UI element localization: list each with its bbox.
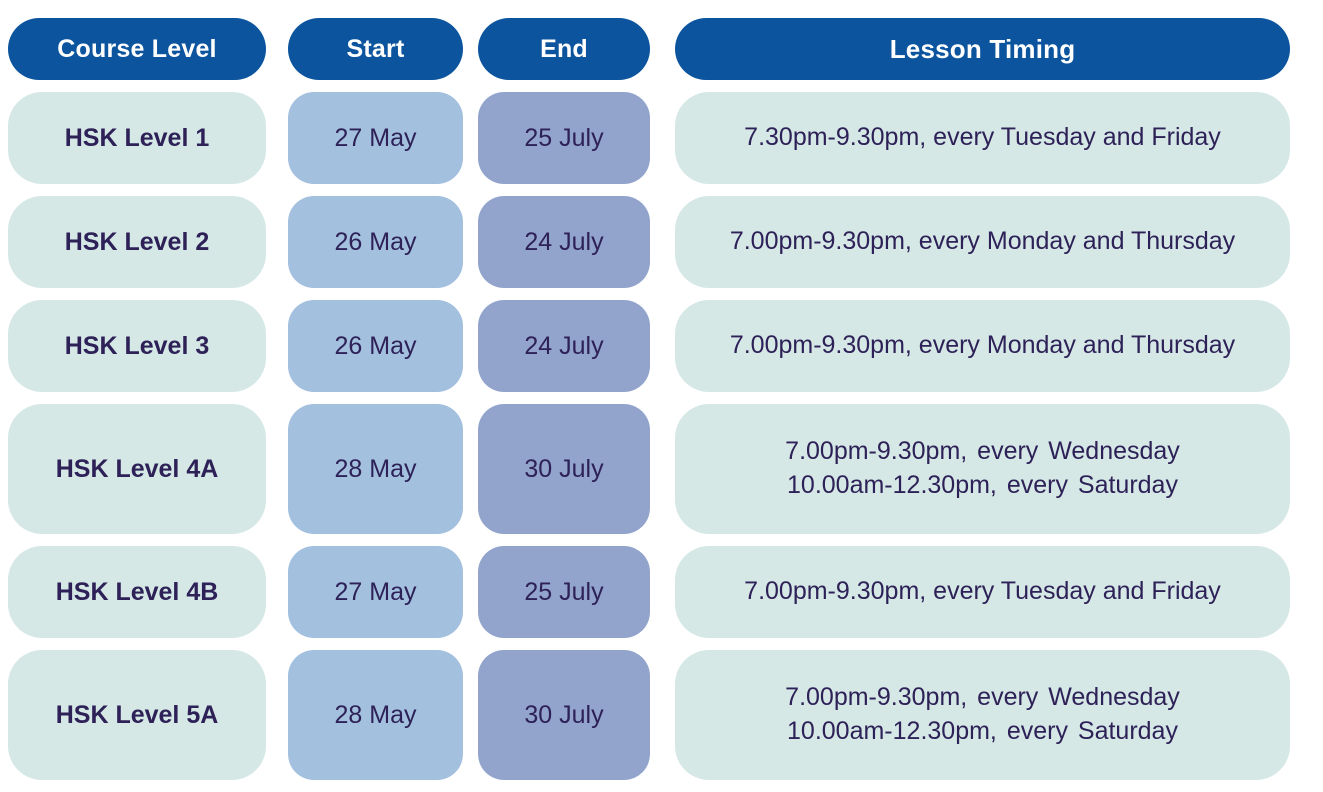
cell-lesson-timing: 7.00pm-9.30pm, every Wednesday 10.00am-1… bbox=[675, 404, 1290, 534]
table-row: HSK Level 3 26 May 24 July 7.00pm-9.30pm… bbox=[8, 300, 1290, 392]
column-header-start: Start bbox=[288, 18, 463, 80]
cell-start-date: 26 May bbox=[288, 300, 463, 392]
cell-start-date: 27 May bbox=[288, 92, 463, 184]
table-row: HSK Level 5A 28 May 30 July 7.00pm-9.30p… bbox=[8, 650, 1290, 780]
cell-lesson-timing: 7.00pm-9.30pm, every Tuesday and Friday bbox=[675, 546, 1290, 638]
cell-start-date: 27 May bbox=[288, 546, 463, 638]
column-header-lesson-timing: Lesson Timing bbox=[675, 18, 1290, 80]
cell-end-date: 30 July bbox=[478, 650, 650, 780]
column-header-end: End bbox=[478, 18, 650, 80]
lesson-timing-text: 7.00pm-9.30pm, every Monday and Thursday bbox=[730, 225, 1235, 259]
cell-start-date: 28 May bbox=[288, 404, 463, 534]
table-row: HSK Level 4A 28 May 30 July 7.00pm-9.30p… bbox=[8, 404, 1290, 534]
column-header-course-level: Course Level bbox=[8, 18, 266, 80]
cell-course-level: HSK Level 3 bbox=[8, 300, 266, 392]
cell-end-date: 25 July bbox=[478, 546, 650, 638]
cell-course-level: HSK Level 4A bbox=[8, 404, 266, 534]
table-row: HSK Level 4B 27 May 25 July 7.00pm-9.30p… bbox=[8, 546, 1290, 638]
cell-start-date: 26 May bbox=[288, 196, 463, 288]
cell-course-level: HSK Level 5A bbox=[8, 650, 266, 780]
cell-end-date: 24 July bbox=[478, 300, 650, 392]
cell-course-level: HSK Level 4B bbox=[8, 546, 266, 638]
cell-lesson-timing: 7.00pm-9.30pm, every Monday and Thursday bbox=[675, 300, 1290, 392]
cell-end-date: 25 July bbox=[478, 92, 650, 184]
lesson-timing-text: 7.00pm-9.30pm, every Monday and Thursday bbox=[730, 329, 1235, 363]
cell-lesson-timing: 7.00pm-9.30pm, every Monday and Thursday bbox=[675, 196, 1290, 288]
cell-course-level: HSK Level 1 bbox=[8, 92, 266, 184]
lesson-timing-text: 7.30pm-9.30pm, every Tuesday and Friday bbox=[744, 121, 1221, 155]
lesson-timing-text: 7.00pm-9.30pm, every Wednesday 10.00am-1… bbox=[785, 681, 1180, 749]
cell-lesson-timing: 7.30pm-9.30pm, every Tuesday and Friday bbox=[675, 92, 1290, 184]
table-header-row: Course Level Start End Lesson Timing bbox=[8, 18, 1290, 80]
cell-start-date: 28 May bbox=[288, 650, 463, 780]
table-row: HSK Level 2 26 May 24 July 7.00pm-9.30pm… bbox=[8, 196, 1290, 288]
cell-lesson-timing: 7.00pm-9.30pm, every Wednesday 10.00am-1… bbox=[675, 650, 1290, 780]
cell-end-date: 24 July bbox=[478, 196, 650, 288]
course-schedule-table: Course Level Start End Lesson Timing HSK… bbox=[0, 0, 1323, 792]
lesson-timing-text: 7.00pm-9.30pm, every Tuesday and Friday bbox=[744, 575, 1221, 609]
lesson-timing-text: 7.00pm-9.30pm, every Wednesday 10.00am-1… bbox=[785, 435, 1180, 503]
table-row: HSK Level 1 27 May 25 July 7.30pm-9.30pm… bbox=[8, 92, 1290, 184]
cell-course-level: HSK Level 2 bbox=[8, 196, 266, 288]
cell-end-date: 30 July bbox=[478, 404, 650, 534]
